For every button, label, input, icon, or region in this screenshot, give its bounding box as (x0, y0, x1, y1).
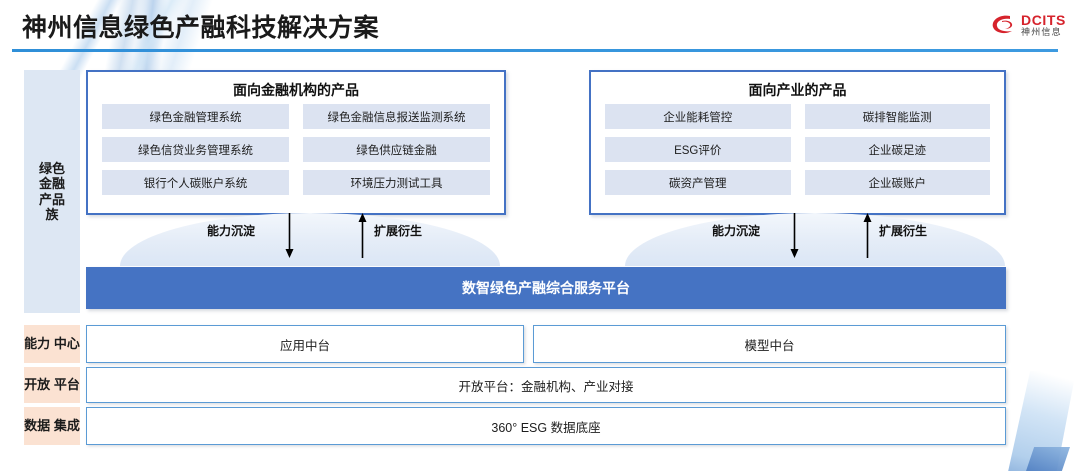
product-chip[interactable]: ESG评价 (605, 137, 791, 162)
page-title: 神州信息绿色产融科技解决方案 (22, 8, 379, 44)
rail-label-line: 绿色 (39, 161, 65, 176)
product-chip[interactable]: 银行个人碳账户系统 (102, 170, 289, 195)
slide-canvas: 神州信息绿色产融科技解决方案 DCITS 神州信息 绿色 金融 产品 族 能力 (0, 0, 1080, 471)
platform-bar[interactable]: 数智绿色产融综合服务平台 (86, 267, 1006, 309)
flow-label-capability-precipitation-left: 能力沉淀 (207, 222, 255, 239)
rail-label-line: 中心 (54, 336, 80, 351)
rail-item-open-platform: 开放 平台 (24, 367, 80, 403)
layer-application-middle-platform[interactable]: 应用中台 (86, 325, 524, 363)
product-chip[interactable]: 企业碳账户 (805, 170, 991, 195)
rail-label-line: 开放 (24, 377, 50, 392)
title-divider-rule (12, 49, 1058, 52)
dcits-swirl-icon (990, 13, 1016, 37)
layer-data-foundation[interactable]: 360° ESG 数据底座 (86, 407, 1006, 445)
decorative-ribbon-bottom-right (1002, 371, 1076, 471)
rail-item-green-finance-product-family: 绿色 金融 产品 族 (24, 70, 80, 313)
flow-label-capability-precipitation-right: 能力沉淀 (712, 222, 760, 239)
rail-label-line: 集成 (54, 418, 80, 433)
product-chip-grid: 绿色金融管理系统 绿色金融信息报送监测系统 绿色信贷业务管理系统 绿色供应链金融… (102, 104, 490, 195)
rail-label-line: 产品 (39, 192, 65, 207)
panel-title: 面向产业的产品 (591, 80, 1004, 100)
decorative-hill-right (625, 213, 1005, 266)
product-chip-grid: 企业能耗管控 碳排智能监测 ESG评价 企业碳足迹 碳资产管理 企业碳账户 (605, 104, 990, 195)
product-chip[interactable]: 企业碳足迹 (805, 137, 991, 162)
rail-item-data-integration: 数据 集成 (24, 407, 80, 445)
arrow-up-icon-left (357, 213, 368, 258)
product-chip[interactable]: 碳排智能监测 (805, 104, 991, 129)
rail-label-line: 金融 (39, 176, 65, 191)
logo-text-cn: 神州信息 (1021, 28, 1066, 37)
rail-label-line: 数据 (24, 418, 50, 433)
product-chip[interactable]: 环境压力测试工具 (303, 170, 490, 195)
arrow-up-icon-right (862, 213, 873, 258)
arrow-down-icon-left (284, 213, 295, 258)
layer-model-middle-platform[interactable]: 模型中台 (533, 325, 1006, 363)
logo-wordmark: DCITS 神州信息 (1021, 13, 1066, 37)
product-chip[interactable]: 企业能耗管控 (605, 104, 791, 129)
product-chip[interactable]: 绿色信贷业务管理系统 (102, 137, 289, 162)
flow-label-extension-derivation-right: 扩展衍生 (879, 222, 927, 239)
layer-open-platform[interactable]: 开放平台：金融机构、产业对接 (86, 367, 1006, 403)
company-logo: DCITS 神州信息 (990, 8, 1066, 42)
product-chip[interactable]: 绿色金融管理系统 (102, 104, 289, 129)
flow-label-extension-derivation-left: 扩展衍生 (374, 222, 422, 239)
rail-item-capability-center: 能力 中心 (24, 325, 80, 363)
product-chip[interactable]: 绿色供应链金融 (303, 137, 490, 162)
decorative-hill-left (120, 213, 500, 266)
panel-products-for-financial-institutions: 面向金融机构的产品 绿色金融管理系统 绿色金融信息报送监测系统 绿色信贷业务管理… (86, 70, 506, 215)
panel-title: 面向金融机构的产品 (88, 80, 504, 100)
decorative-ribbon-bottom-right-accent (1024, 447, 1070, 471)
slide-header: 神州信息绿色产融科技解决方案 DCITS 神州信息 (0, 0, 1080, 56)
panel-products-for-industry: 面向产业的产品 企业能耗管控 碳排智能监测 ESG评价 企业碳足迹 碳资产管理 … (589, 70, 1006, 215)
arrow-down-icon-right (789, 213, 800, 258)
rail-label-line: 平台 (54, 377, 80, 392)
rail-label-line: 族 (39, 207, 65, 222)
logo-text-en: DCITS (1021, 13, 1066, 27)
product-chip[interactable]: 碳资产管理 (605, 170, 791, 195)
rail-label-line: 能力 (24, 336, 50, 351)
product-chip[interactable]: 绿色金融信息报送监测系统 (303, 104, 490, 129)
